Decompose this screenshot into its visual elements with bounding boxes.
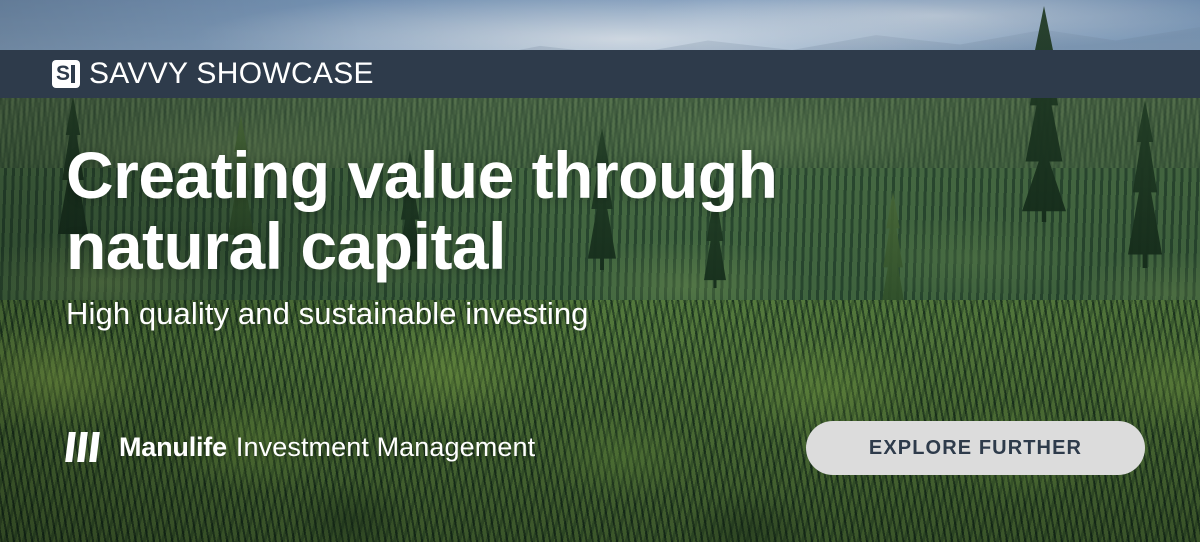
savvy-logo-letter-i bbox=[71, 65, 75, 83]
explore-further-button[interactable]: EXPLORE FURTHER bbox=[806, 421, 1145, 475]
brand-subname: Investment Management bbox=[236, 432, 535, 463]
manulife-brand-lockup: Manulife Investment Management bbox=[66, 428, 535, 466]
hero-subheadline: High quality and sustainable investing bbox=[66, 296, 946, 332]
brand-name: Manulife bbox=[119, 432, 227, 463]
showcase-header-bar: S SAVVY SHOWCASE bbox=[0, 50, 1200, 98]
savvy-showcase-banner: S SAVVY SHOWCASE Creating value through … bbox=[0, 0, 1200, 542]
manulife-bars-icon bbox=[66, 432, 102, 462]
brand-bar-1 bbox=[65, 432, 76, 462]
savvy-monogram-icon: S bbox=[52, 60, 80, 88]
hero-copy: Creating value through natural capital H… bbox=[66, 140, 946, 332]
brand-bar-3 bbox=[89, 432, 100, 462]
savvy-logo-letter-s: S bbox=[56, 62, 70, 86]
hero-headline: Creating value through natural capital bbox=[66, 140, 946, 282]
showcase-title: SAVVY SHOWCASE bbox=[89, 59, 374, 89]
brand-bar-2 bbox=[77, 432, 88, 462]
